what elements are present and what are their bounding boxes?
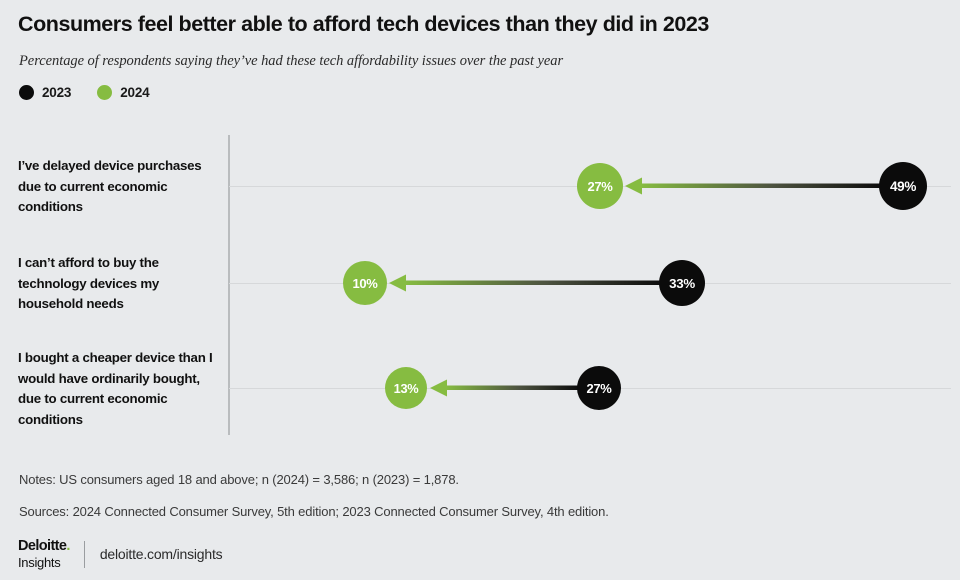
data-label-2024-row-1: 10% — [352, 276, 377, 291]
page-title: Consumers feel better able to afford tec… — [18, 11, 918, 37]
data-label-2023-row-2: 27% — [586, 381, 611, 396]
data-point-2023-row-0[interactable]: 49% — [879, 162, 927, 210]
change-arrow-row-0 — [625, 176, 880, 196]
data-label-2023-row-0: 49% — [890, 179, 916, 194]
data-point-2024-row-2[interactable]: 13% — [385, 367, 427, 409]
legend-dot-2023-icon — [19, 85, 34, 100]
legend-label-2024: 2024 — [120, 85, 149, 100]
category-label-1: I can’t afford to buy the technology dev… — [18, 253, 218, 315]
sources-text: Sources: 2024 Connected Consumer Survey,… — [19, 504, 609, 519]
data-point-2023-row-2[interactable]: 27% — [577, 366, 621, 410]
page-subtitle: Percentage of respondents saying they’ve… — [19, 52, 919, 70]
deloitte-insights-logo: Deloitte. Insights — [18, 539, 84, 569]
legend-label-2023: 2023 — [42, 85, 71, 100]
y-axis-line — [228, 135, 230, 435]
legend-dot-2024-icon — [97, 85, 112, 100]
legend-item-2023: 2023 — [19, 85, 71, 100]
brand-dot-icon: . — [66, 538, 69, 554]
brand-wordmark-text: Deloitte — [18, 538, 66, 554]
brand-wordmark: Deloitte. — [18, 539, 70, 554]
data-label-2024-row-0: 27% — [587, 179, 612, 194]
chart-legend: 2023 2024 — [19, 85, 149, 100]
data-label-2023-row-1: 33% — [669, 276, 695, 291]
notes-text: Notes: US consumers aged 18 and above; n… — [19, 472, 459, 487]
category-label-2: I bought a cheaper device than I would h… — [18, 348, 218, 430]
change-arrow-row-2 — [430, 378, 578, 398]
category-label-0: I’ve delayed device purchases due to cur… — [18, 156, 218, 218]
change-arrow-row-1 — [389, 273, 660, 293]
data-point-2024-row-1[interactable]: 10% — [343, 261, 387, 305]
data-label-2024-row-2: 13% — [394, 381, 419, 396]
chart-plot-area: I’ve delayed device purchases due to cur… — [0, 120, 960, 440]
brand-url-link[interactable]: deloitte.com/insights — [85, 546, 223, 562]
data-point-2024-row-0[interactable]: 27% — [577, 163, 623, 209]
brand-subwordmark: Insights — [18, 556, 70, 569]
legend-item-2024: 2024 — [97, 85, 149, 100]
infographic-page: Consumers feel better able to afford tec… — [0, 0, 960, 580]
data-point-2023-row-1[interactable]: 33% — [659, 260, 705, 306]
brand-footer: Deloitte. Insights deloitte.com/insights — [18, 538, 222, 570]
